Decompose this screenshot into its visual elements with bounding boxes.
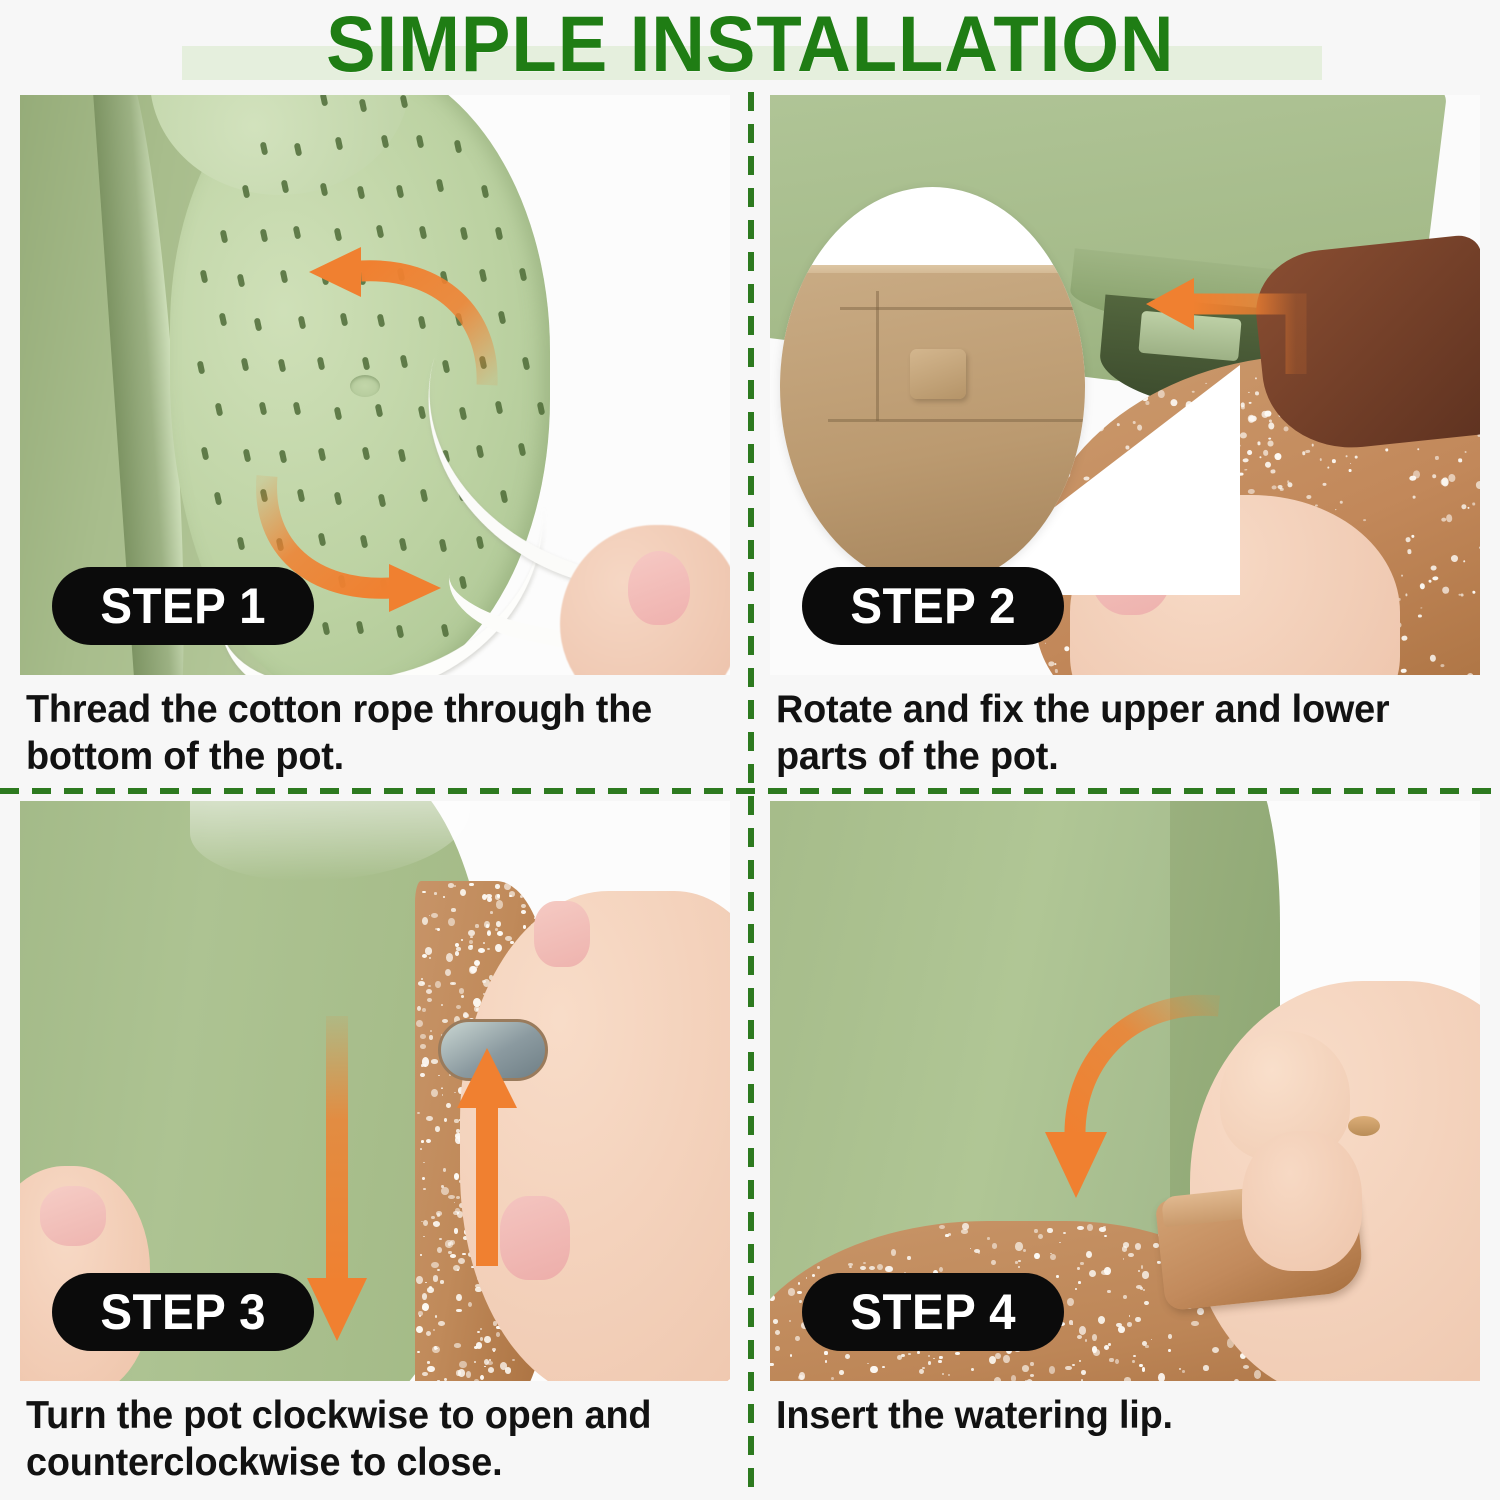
inset-seam-line	[828, 419, 1085, 422]
step-2-badge-label: STEP 2	[850, 581, 1016, 631]
step-1-badge-label: STEP 1	[100, 581, 266, 631]
step-2-caption: Rotate and fix the upper and lower parts…	[776, 686, 1455, 780]
step-4-badge: STEP 4	[802, 1273, 1064, 1351]
ring	[1348, 1116, 1380, 1136]
step-card-1: STEP 1 Thread the cotton rope through th…	[0, 88, 750, 794]
step-card-2: STEP 2 Rotate and fix the upper and lowe…	[750, 88, 1500, 794]
step-card-4: STEP 4 Insert the watering lip.	[750, 794, 1500, 1500]
page-title: SIMPLE INSTALLATION	[326, 2, 1174, 86]
locking-nub-closeup	[910, 349, 966, 399]
step-3-badge: STEP 3	[52, 1273, 314, 1351]
arrow-up-icon	[445, 1046, 535, 1266]
step-4-caption: Insert the watering lip.	[776, 1392, 1455, 1439]
page-header: SIMPLE INSTALLATION	[0, 0, 1500, 88]
curved-arrow-down-icon	[1015, 986, 1245, 1216]
fingernail	[534, 901, 590, 967]
step-3-caption: Turn the pot clockwise to open and count…	[26, 1392, 705, 1486]
step-3-photo: STEP 3	[20, 801, 730, 1381]
infographic-page: SIMPLE INSTALLATION	[0, 0, 1500, 1500]
inset-seam-line	[876, 291, 879, 421]
step-2-photo: STEP 2	[770, 95, 1480, 675]
step-1-photo: STEP 1	[20, 95, 730, 675]
step-1-caption: Thread the cotton rope through the botto…	[26, 686, 705, 780]
left-thumbnail	[40, 1186, 106, 1246]
step-1-badge: STEP 1	[52, 567, 314, 645]
fingernail	[628, 551, 690, 625]
step-3-badge-label: STEP 3	[100, 1287, 266, 1337]
detail-zoom-inset	[780, 187, 1085, 587]
step-card-3: STEP 3 Turn the pot clockwise to open an…	[0, 794, 750, 1500]
step-2-badge: STEP 2	[802, 567, 1064, 645]
step-4-photo: STEP 4	[770, 801, 1480, 1381]
step-4-badge-label: STEP 4	[850, 1287, 1016, 1337]
thumb	[1242, 1131, 1362, 1271]
bent-arrow-left-icon	[1130, 270, 1320, 390]
inset-tan-surface	[780, 273, 1085, 587]
horizontal-dashed-divider	[0, 788, 1500, 794]
curved-arrow-up-left-icon	[265, 245, 495, 390]
